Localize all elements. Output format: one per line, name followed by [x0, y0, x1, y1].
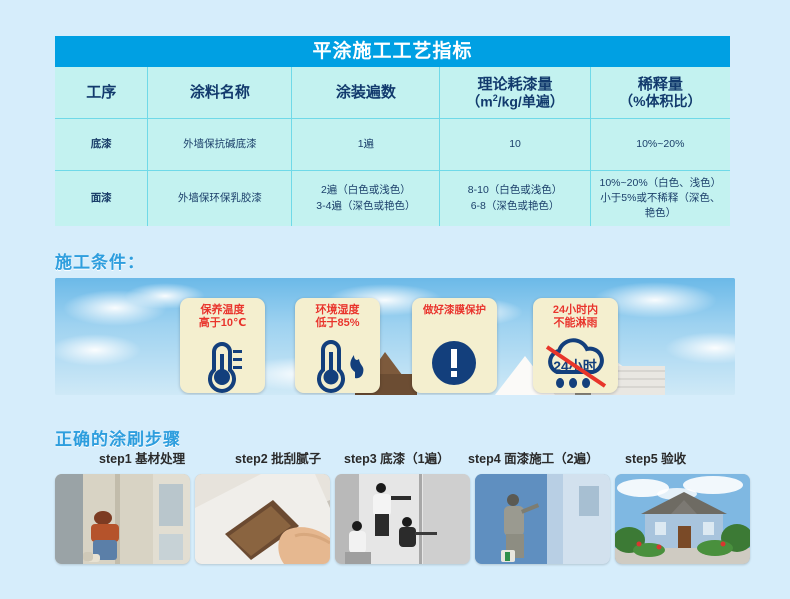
thermometer-flame-icon [295, 338, 380, 393]
worker-wall-photo [55, 474, 190, 564]
header-dilution-line1: 稀释量 [638, 76, 683, 93]
step-thumbnail-1 [55, 474, 190, 564]
table-title-row: 平涂施工工艺指标 [55, 36, 730, 67]
card3-line1: 做好漆膜保护 [412, 304, 497, 316]
cell-dilution: 10%~20%（白色、浅色） 小于5%或不稀释（深色、 艳色） [590, 171, 730, 227]
exclamation-circle-icon [412, 338, 497, 393]
table-row: 底漆 外墙保抗碱底漆 1遍 10 10%~20% [55, 119, 730, 171]
condition-card-no-rain: 24小时内 不能淋雨 24小时 [533, 298, 618, 393]
step-label-2: step2 批刮腻子 [235, 448, 321, 467]
step-thumbnails [55, 474, 745, 569]
step-label-5: step5 验收 [625, 448, 686, 467]
step-label-3: step3 底漆（1遍） [344, 448, 450, 467]
header-cell-paint-name: 涂料名称 [148, 67, 292, 119]
putty-trowel-photo [195, 474, 330, 564]
cell-paint-name: 外墙保环保乳胶漆 [148, 171, 292, 227]
step-thumbnail-2 [195, 474, 330, 564]
table-row: 面漆 外墙保环保乳胶漆 2遍（白色或浅色） 3-4遍（深色或艳色） 8-10（白… [55, 171, 730, 227]
primer-spray-photo [335, 474, 470, 564]
card4-line1: 24小时内 [533, 304, 618, 317]
topcoat-worker-photo [475, 474, 610, 564]
card2-line2: 低于85% [295, 317, 380, 330]
rain-cloud-crossed-icon: 24小时 [533, 338, 618, 393]
cell-coats: 2遍（白色或浅色） 3-4遍（深色或艳色） [292, 171, 440, 227]
cell-coats: 1遍 [292, 119, 440, 171]
cell-consumption: 8-10（白色或浅色） 6-8（深色或艳色） [440, 171, 590, 227]
header-cell-process: 工序 [55, 67, 148, 119]
cell-coats-line1: 2遍（白色或浅色） [292, 183, 439, 198]
cell-coats-line2: 3-4遍（深色或艳色） [292, 199, 439, 214]
cell-consumption: 10 [440, 119, 590, 171]
card1-line2: 高于10℃ [180, 317, 265, 330]
cell-dilution-line1: 10%~20%（白色、浅色） [591, 176, 730, 191]
steps-title: 正确的涂刷步骤 [55, 425, 181, 450]
cell-consumption-line2: 6-8（深色或艳色） [440, 199, 589, 214]
card4-text: 24小时内 不能淋雨 [533, 298, 618, 330]
cell-dilution-line3: 艳色） [591, 206, 730, 221]
step-labels: step1 基材处理 step2 批刮腻子 step3 底漆（1遍） step4… [55, 448, 745, 468]
step-label-4: step4 面漆施工（2遍） [468, 448, 599, 467]
finished-house-photo [615, 474, 750, 564]
step-label-1: step1 基材处理 [99, 448, 185, 467]
poster-page: 平涂施工工艺指标 工序 涂料名称 涂装遍数 理论耗漆量 （m2/kg/单遍） 稀… [0, 0, 790, 599]
cell-paint-name: 外墙保抗碱底漆 [148, 119, 292, 171]
card2-text: 环境湿度 低于85% [295, 298, 380, 330]
conditions-banner: 保养温度 高于10℃ [55, 278, 735, 395]
condition-cards: 保养温度 高于10℃ [55, 278, 735, 395]
header-cell-consumption: 理论耗漆量 （m2/kg/单遍） [440, 67, 590, 119]
card4-line2: 不能淋雨 [533, 317, 618, 330]
card3-text: 做好漆膜保护 [412, 298, 497, 316]
cell-process: 面漆 [55, 171, 148, 227]
thermometer-icon [180, 338, 265, 393]
card2-line1: 环境湿度 [295, 304, 380, 317]
cell-process: 底漆 [55, 119, 148, 171]
header-dilution-line2: （%体积比） [591, 93, 730, 109]
table-title: 平涂施工工艺指标 [55, 36, 730, 67]
card1-text: 保养温度 高于10℃ [180, 298, 265, 330]
step-thumbnail-4 [475, 474, 610, 564]
card1-line1: 保养温度 [180, 304, 265, 317]
condition-card-temperature: 保养温度 高于10℃ [180, 298, 265, 393]
cell-consumption-line1: 8-10（白色或浅色） [440, 183, 589, 198]
header-consumption-line2: （m2/kg/单遍） [440, 93, 589, 110]
conditions-title: 施工条件： [55, 248, 145, 273]
cell-dilution: 10%~20% [590, 119, 730, 171]
table-header-row: 工序 涂料名称 涂装遍数 理论耗漆量 （m2/kg/单遍） 稀释量 （%体积比） [55, 67, 730, 119]
header-consumption-line1: 理论耗漆量 [478, 76, 553, 93]
step-thumbnail-3 [335, 474, 470, 564]
header-cell-coats: 涂装遍数 [292, 67, 440, 119]
step-thumbnail-5 [615, 474, 750, 564]
condition-card-humidity: 环境湿度 低于85% [295, 298, 380, 393]
header-cell-dilution: 稀释量 （%体积比） [590, 67, 730, 119]
spec-table: 平涂施工工艺指标 工序 涂料名称 涂装遍数 理论耗漆量 （m2/kg/单遍） 稀… [55, 36, 730, 226]
condition-card-film-protection: 做好漆膜保护 [412, 298, 497, 393]
cell-dilution-line2: 小于5%或不稀释（深色、 [591, 191, 730, 206]
